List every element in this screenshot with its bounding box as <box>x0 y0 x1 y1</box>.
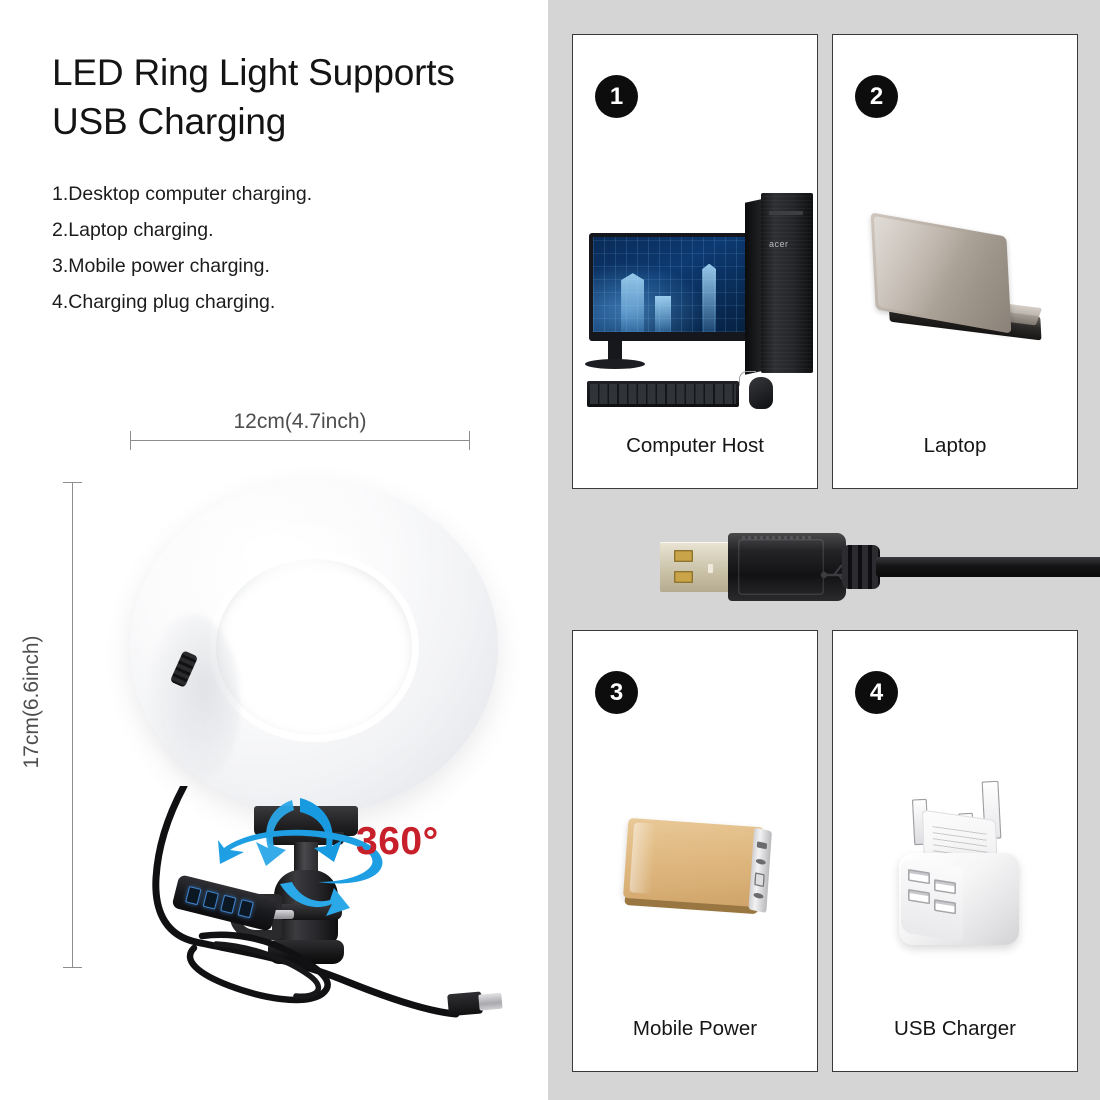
usage-scenarios-panel: 1 <box>548 0 1100 1100</box>
tower-texture <box>761 193 813 373</box>
keyboard-keys <box>590 384 736 404</box>
usb-plug-contact <box>478 993 502 1011</box>
usb-port <box>934 899 956 914</box>
controller-button[interactable] <box>237 899 254 919</box>
controller-button[interactable] <box>220 895 237 915</box>
monitor-base <box>585 359 645 369</box>
usb-port <box>934 879 956 894</box>
power-button <box>753 892 763 899</box>
mouse-icon <box>749 377 773 409</box>
screen-grid <box>593 237 749 332</box>
page-title: LED Ring Light Supports USB Charging <box>52 48 512 146</box>
indicator-led <box>756 858 766 865</box>
laptop-image <box>833 35 1077 488</box>
card-label: Mobile Power <box>573 1017 817 1041</box>
usb-port <box>908 869 930 884</box>
desktop-computer-image: acer <box>573 35 817 488</box>
usb-contact-pad <box>674 550 693 562</box>
usb-port-group <box>908 867 960 935</box>
card-label: Laptop <box>833 434 1077 458</box>
usb-cable-connector-image <box>660 525 1100 609</box>
controller-button[interactable] <box>185 886 202 906</box>
screen-building <box>655 296 671 332</box>
list-item: 1.Desktop computer charging. <box>52 176 492 212</box>
height-dimension-label: 17cm(6.6inch) <box>20 612 44 792</box>
infographic-canvas: LED Ring Light Supports USB Charging 1.D… <box>0 0 1100 1100</box>
list-item: 2.Laptop charging. <box>52 212 492 248</box>
power-bank-image <box>573 631 817 1071</box>
monitor-screen <box>593 237 749 332</box>
laptop-icon <box>867 225 1047 353</box>
tower-side-panel <box>745 199 761 374</box>
controller-button[interactable] <box>202 890 219 910</box>
ring-light-ring <box>130 480 498 814</box>
scenario-card-laptop[interactable]: 2 Laptop <box>832 34 1078 489</box>
tower-drive-bay <box>769 211 803 215</box>
usb-strain-relief <box>842 545 880 589</box>
screen-building <box>621 273 644 332</box>
power-bank-icon <box>622 818 776 924</box>
width-dimension-line <box>130 440 470 441</box>
usb-a-contact-housing <box>660 542 732 592</box>
tower-brand-label: acer <box>769 239 789 249</box>
feature-list: 1.Desktop computer charging. 2.Laptop ch… <box>52 176 492 320</box>
card-label: USB Charger <box>833 1017 1077 1041</box>
micro-usb-port <box>757 841 767 849</box>
cable-usb-plug <box>447 990 503 1017</box>
width-dimension-label: 12cm(4.7inch) <box>130 410 470 434</box>
height-dimension-line <box>72 482 73 968</box>
usb-output-port <box>754 872 765 887</box>
pc-tower-icon: acer <box>761 193 813 373</box>
usb-plug-housing <box>728 533 846 601</box>
power-bank-body <box>623 818 764 907</box>
scenario-card-mobile-power[interactable]: 3 Mobile Power <box>572 630 818 1072</box>
usb-port <box>908 889 930 904</box>
card-label: Computer Host <box>573 434 817 458</box>
left-content-pane: LED Ring Light Supports USB Charging 1.D… <box>0 0 548 1100</box>
monitor-stand <box>608 341 622 361</box>
ring-light-highlight <box>193 510 384 597</box>
ring-light-shadow <box>145 614 241 788</box>
scenario-card-usb-charger[interactable]: 4 <box>832 630 1078 1072</box>
scenario-card-computer-host[interactable]: 1 <box>572 34 818 489</box>
list-item: 4.Charging plug charging. <box>52 284 492 320</box>
usb-cable-wire <box>876 557 1100 577</box>
usb-charger-image <box>833 631 1077 1071</box>
screen-building <box>702 264 716 332</box>
wall-charger-icon <box>881 781 1041 971</box>
usb-notch <box>708 564 713 573</box>
panel-inner: 1 <box>548 17 1100 1083</box>
keyboard-icon <box>587 381 739 407</box>
monitor-icon <box>589 233 753 341</box>
usb-contact-pad <box>674 571 693 583</box>
list-item: 3.Mobile power charging. <box>52 248 492 284</box>
ring-light-product-image: 360° <box>118 470 518 1050</box>
